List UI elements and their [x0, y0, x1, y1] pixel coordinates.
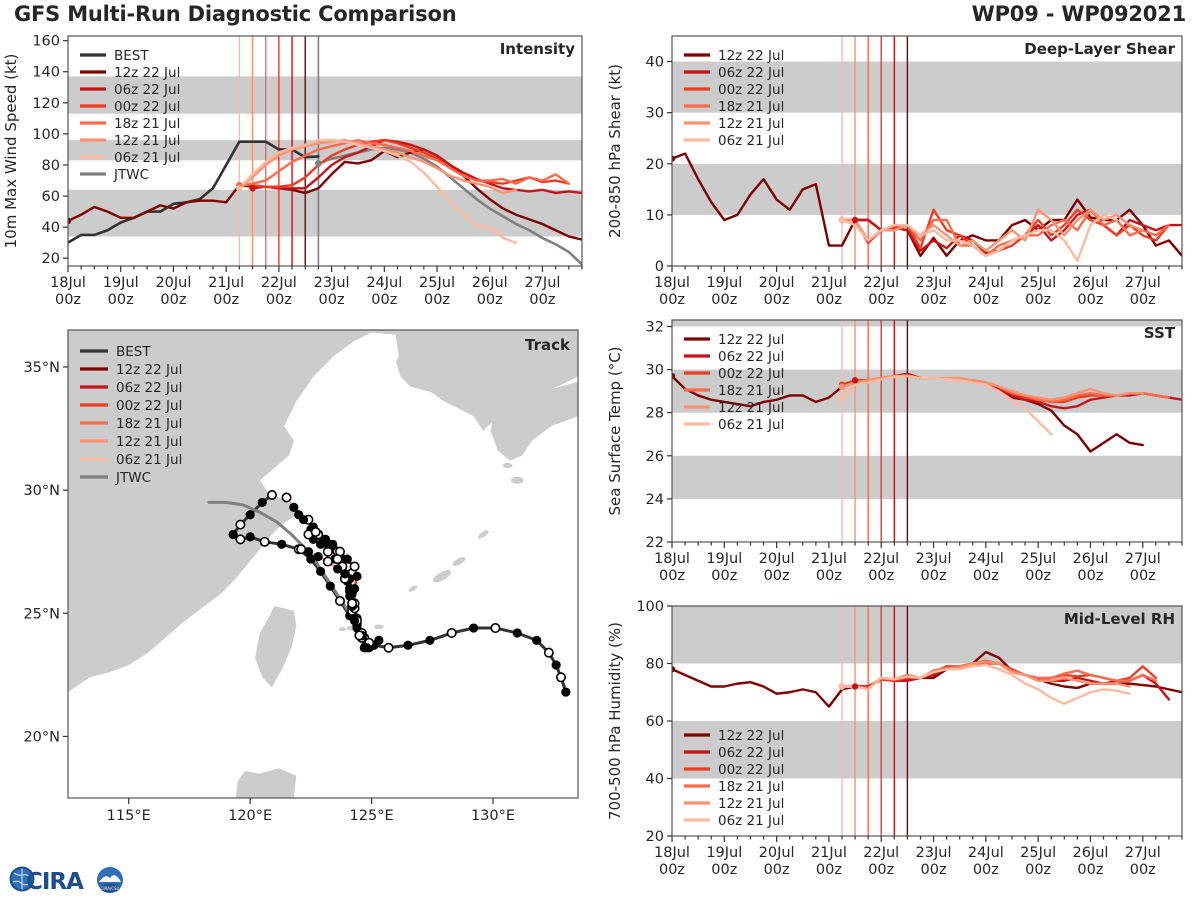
- svg-text:00z: 00z: [659, 862, 685, 878]
- cira-logo: CIRA CIRA/CSU: [6, 858, 130, 898]
- svg-text:20: 20: [646, 157, 664, 173]
- svg-text:00z: 00z: [921, 568, 947, 584]
- svg-text:20: 20: [646, 829, 664, 845]
- svg-text:80: 80: [42, 158, 60, 174]
- legend-label: 00z 22 Jul: [114, 99, 180, 115]
- svg-text:26Jul: 26Jul: [1072, 845, 1108, 861]
- svg-text:00z: 00z: [319, 292, 345, 308]
- svg-text:80: 80: [646, 657, 664, 673]
- svg-text:27Jul: 27Jul: [1125, 275, 1161, 291]
- legend-label: JTWC: [113, 167, 149, 183]
- shear-plot[interactable]: 01020304018Jul00z19Jul00z20Jul00z21Jul00…: [600, 28, 1200, 328]
- svg-text:22Jul: 22Jul: [863, 275, 899, 291]
- svg-text:00z: 00z: [816, 862, 842, 878]
- panel-title: SST: [1144, 324, 1176, 342]
- rh-panel: 2040608010018Jul00z19Jul00z20Jul00z21Jul…: [600, 598, 1200, 898]
- legend-label: 18z 21 Jul: [114, 116, 180, 132]
- svg-text:18Jul: 18Jul: [50, 275, 86, 291]
- svg-text:24Jul: 24Jul: [366, 275, 402, 291]
- svg-text:25Jul: 25Jul: [419, 275, 455, 291]
- shear-panel: 01020304018Jul00z19Jul00z20Jul00z21Jul00…: [600, 28, 1200, 328]
- svg-text:18Jul: 18Jul: [654, 551, 690, 567]
- y-axis-label: 10m Max Wind Speed (kt): [2, 54, 20, 249]
- svg-text:25Jul: 25Jul: [1020, 551, 1056, 567]
- svg-text:00z: 00z: [868, 568, 894, 584]
- svg-text:00z: 00z: [816, 292, 842, 308]
- svg-text:24Jul: 24Jul: [968, 275, 1004, 291]
- svg-text:20: 20: [42, 251, 60, 267]
- svg-text:21Jul: 21Jul: [208, 275, 244, 291]
- svg-text:00z: 00z: [266, 292, 292, 308]
- svg-text:160: 160: [32, 34, 60, 50]
- legend-label: 00z 22 Jul: [718, 366, 784, 382]
- svg-text:140: 140: [32, 65, 60, 81]
- panel-title: Track: [525, 336, 571, 354]
- svg-text:20Jul: 20Jul: [759, 551, 795, 567]
- svg-text:00z: 00z: [973, 292, 999, 308]
- y-axis-label: Sea Surface Temp (°C): [606, 346, 624, 515]
- legend-label: BEST: [114, 48, 149, 64]
- svg-text:23Jul: 23Jul: [916, 275, 952, 291]
- svg-text:40: 40: [42, 220, 60, 236]
- svg-text:20°N: 20°N: [23, 729, 60, 745]
- svg-text:0: 0: [655, 259, 664, 275]
- svg-text:120°E: 120°E: [228, 808, 272, 824]
- svg-text:00z: 00z: [1077, 862, 1103, 878]
- svg-text:130°E: 130°E: [471, 808, 515, 824]
- svg-text:00z: 00z: [160, 292, 186, 308]
- svg-text:00z: 00z: [711, 292, 737, 308]
- track-map[interactable]: 20°N25°N30°N35°N115°E120°E125°E130°ETrac…: [0, 322, 600, 862]
- svg-text:60: 60: [42, 189, 60, 205]
- svg-text:00z: 00z: [477, 292, 503, 308]
- svg-text:00z: 00z: [1025, 292, 1051, 308]
- svg-text:22Jul: 22Jul: [863, 845, 899, 861]
- legend-label: 06z 21 Jul: [718, 417, 784, 433]
- svg-text:00z: 00z: [371, 292, 397, 308]
- page-title: GFS Multi-Run Diagnostic Comparison: [14, 2, 456, 26]
- svg-text:120: 120: [32, 96, 60, 112]
- legend-label: 06z 22 Jul: [718, 65, 784, 81]
- svg-text:00z: 00z: [1077, 292, 1103, 308]
- svg-text:32: 32: [646, 319, 664, 335]
- legend-label: 12z 21 Jul: [116, 434, 182, 450]
- legend-label: 18z 21 Jul: [718, 779, 784, 795]
- svg-text:00z: 00z: [764, 862, 790, 878]
- legend-label: JTWC: [115, 470, 151, 486]
- svg-text:00z: 00z: [529, 292, 555, 308]
- legend-label: 06z 21 Jul: [114, 150, 180, 166]
- sst-panel: 22242628303218Jul00z19Jul00z20Jul00z21Ju…: [600, 312, 1200, 602]
- rh-plot[interactable]: 2040608010018Jul00z19Jul00z20Jul00z21Jul…: [600, 598, 1200, 898]
- svg-text:40: 40: [646, 55, 664, 71]
- svg-text:115°E: 115°E: [107, 808, 151, 824]
- legend-label: 12z 22 Jul: [114, 65, 180, 81]
- svg-text:00z: 00z: [921, 292, 947, 308]
- svg-text:24: 24: [646, 492, 664, 508]
- svg-text:00z: 00z: [1130, 862, 1156, 878]
- svg-text:27Jul: 27Jul: [524, 275, 560, 291]
- legend-label: 06z 22 Jul: [116, 380, 182, 396]
- svg-text:100: 100: [636, 599, 664, 615]
- svg-text:26Jul: 26Jul: [1072, 275, 1108, 291]
- svg-text:00z: 00z: [973, 862, 999, 878]
- svg-text:24Jul: 24Jul: [968, 551, 1004, 567]
- svg-text:125°E: 125°E: [350, 808, 394, 824]
- svg-text:30: 30: [646, 106, 664, 122]
- legend-label: 18z 21 Jul: [718, 383, 784, 399]
- sst-plot[interactable]: 22242628303218Jul00z19Jul00z20Jul00z21Ju…: [600, 312, 1200, 602]
- svg-text:00z: 00z: [424, 292, 450, 308]
- svg-text:30: 30: [646, 363, 664, 379]
- svg-text:26Jul: 26Jul: [1072, 551, 1108, 567]
- svg-text:00z: 00z: [659, 292, 685, 308]
- legend-label: BEST: [116, 344, 151, 360]
- svg-text:22: 22: [646, 535, 664, 551]
- svg-text:25Jul: 25Jul: [1020, 275, 1056, 291]
- intensity-panel: 2040608010012014016018Jul00z19Jul00z20Ju…: [0, 28, 600, 328]
- legend-label: 18z 21 Jul: [718, 99, 784, 115]
- svg-text:00z: 00z: [55, 292, 81, 308]
- panel-title: Deep-Layer Shear: [1024, 40, 1175, 58]
- svg-text:21Jul: 21Jul: [811, 845, 847, 861]
- svg-text:00z: 00z: [659, 568, 685, 584]
- svg-text:27Jul: 27Jul: [1125, 551, 1161, 567]
- legend-label: 06z 22 Jul: [718, 745, 784, 761]
- svg-text:00z: 00z: [868, 292, 894, 308]
- svg-text:20Jul: 20Jul: [759, 275, 795, 291]
- svg-text:27Jul: 27Jul: [1125, 845, 1161, 861]
- svg-text:00z: 00z: [1025, 862, 1051, 878]
- svg-text:23Jul: 23Jul: [916, 551, 952, 567]
- legend-label: 12z 22 Jul: [718, 332, 784, 348]
- svg-text:22Jul: 22Jul: [261, 275, 297, 291]
- svg-text:00z: 00z: [868, 862, 894, 878]
- svg-text:35°N: 35°N: [23, 360, 60, 376]
- svg-text:00z: 00z: [764, 568, 790, 584]
- svg-text:26Jul: 26Jul: [472, 275, 508, 291]
- legend-label: 12z 22 Jul: [718, 48, 784, 64]
- svg-text:CIRA: CIRA: [26, 869, 84, 895]
- svg-text:25Jul: 25Jul: [1020, 845, 1056, 861]
- svg-text:21Jul: 21Jul: [811, 551, 847, 567]
- svg-text:60: 60: [646, 714, 664, 730]
- svg-text:20Jul: 20Jul: [155, 275, 191, 291]
- y-axis-label: 700-500 hPa Humidity (%): [606, 622, 624, 820]
- legend-label: 06z 21 Jul: [718, 813, 784, 829]
- legend-label: 06z 21 Jul: [116, 452, 182, 468]
- svg-text:00z: 00z: [1130, 568, 1156, 584]
- svg-text:28: 28: [646, 406, 664, 422]
- legend-label: 06z 21 Jul: [718, 133, 784, 149]
- y-axis-label: 200-850 hPa Shear (kt): [606, 64, 624, 238]
- panel-title: Mid-Level RH: [1064, 610, 1175, 628]
- legend-label: 12z 21 Jul: [718, 796, 784, 812]
- panel-title: Intensity: [500, 40, 576, 58]
- svg-text:00z: 00z: [711, 862, 737, 878]
- svg-text:21Jul: 21Jul: [811, 275, 847, 291]
- legend-label: 12z 21 Jul: [114, 133, 180, 149]
- svg-text:23Jul: 23Jul: [916, 845, 952, 861]
- svg-text:18Jul: 18Jul: [654, 275, 690, 291]
- legend-label: 00z 22 Jul: [718, 762, 784, 778]
- svg-text:00z: 00z: [108, 292, 134, 308]
- svg-text:CIRA/CSU: CIRA/CSU: [101, 886, 120, 891]
- svg-text:00z: 00z: [1025, 568, 1051, 584]
- legend-label: 00z 22 Jul: [116, 398, 182, 414]
- track-panel: 20°N25°N30°N35°N115°E120°E125°E130°ETrac…: [0, 322, 600, 862]
- svg-text:100: 100: [32, 127, 60, 143]
- legend-label: 06z 22 Jul: [718, 349, 784, 365]
- legend-label: 12z 21 Jul: [718, 116, 784, 132]
- svg-text:19Jul: 19Jul: [706, 551, 742, 567]
- svg-text:19Jul: 19Jul: [706, 275, 742, 291]
- legend-label: 06z 22 Jul: [114, 82, 180, 98]
- svg-text:40: 40: [646, 772, 664, 788]
- svg-text:30°N: 30°N: [23, 483, 60, 499]
- svg-text:00z: 00z: [816, 568, 842, 584]
- legend-label: 12z 22 Jul: [718, 728, 784, 744]
- svg-text:00z: 00z: [973, 568, 999, 584]
- svg-text:00z: 00z: [921, 862, 947, 878]
- svg-text:25°N: 25°N: [23, 606, 60, 622]
- legend-label: 00z 22 Jul: [718, 82, 784, 98]
- svg-text:00z: 00z: [1077, 568, 1103, 584]
- svg-text:00z: 00z: [764, 292, 790, 308]
- svg-text:22Jul: 22Jul: [863, 551, 899, 567]
- figure-canvas: GFS Multi-Run Diagnostic Comparison WP09…: [0, 0, 1200, 900]
- svg-text:26: 26: [646, 449, 664, 465]
- svg-text:24Jul: 24Jul: [968, 845, 1004, 861]
- legend-label: 12z 21 Jul: [718, 400, 784, 416]
- svg-text:19Jul: 19Jul: [706, 845, 742, 861]
- svg-text:18Jul: 18Jul: [654, 845, 690, 861]
- svg-text:00z: 00z: [213, 292, 239, 308]
- svg-text:19Jul: 19Jul: [103, 275, 139, 291]
- legend-label: 12z 22 Jul: [116, 362, 182, 378]
- svg-text:10: 10: [646, 208, 664, 224]
- svg-text:00z: 00z: [1130, 292, 1156, 308]
- storm-id-title: WP09 - WP092021: [972, 2, 1186, 26]
- svg-text:20Jul: 20Jul: [759, 845, 795, 861]
- intensity-plot[interactable]: 2040608010012014016018Jul00z19Jul00z20Ju…: [0, 28, 600, 328]
- svg-text:23Jul: 23Jul: [314, 275, 350, 291]
- legend-label: 18z 21 Jul: [116, 416, 182, 432]
- svg-text:00z: 00z: [711, 568, 737, 584]
